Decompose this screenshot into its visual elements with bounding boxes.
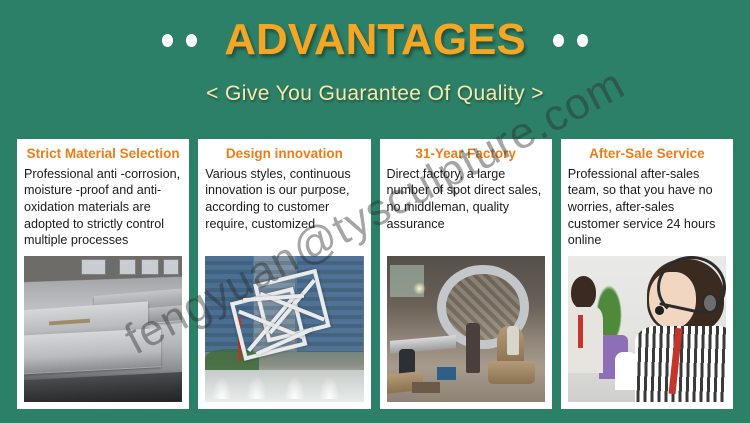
card-body-text: Professional after-sales team, so that y…	[561, 166, 733, 256]
water-spray	[246, 376, 267, 399]
steel-sheets-illustration	[24, 256, 182, 402]
card-photo-cube-sculpture	[205, 256, 363, 402]
left-dot-group	[162, 34, 197, 47]
window-shape	[141, 259, 158, 275]
page-subtitle: < Give You Guarantee Of Quality >	[0, 82, 750, 106]
card-body-text: Professional anti -corrosion, moisture -…	[17, 166, 189, 256]
decorative-dot-icon	[186, 34, 197, 47]
call-center-illustration	[568, 256, 726, 402]
advantage-card[interactable]: After-Sale Service Professional after-sa…	[561, 139, 733, 409]
cube-sculpture-illustration	[205, 256, 363, 402]
card-title: 31-Year Factory	[380, 139, 552, 166]
water-spray	[319, 376, 340, 399]
worker-figure	[507, 326, 520, 355]
card-photo-customer-service	[568, 256, 726, 402]
lanyard	[578, 315, 583, 348]
advantage-card[interactable]: Strict Material Selection Professional a…	[17, 139, 189, 409]
title-row: ADVANTAGES	[0, 12, 750, 68]
floor-shadow	[24, 371, 182, 402]
window-shape	[81, 259, 106, 275]
tool-box	[437, 367, 456, 380]
card-title: Strict Material Selection	[17, 139, 189, 166]
steel-slab	[24, 328, 160, 374]
card-title: Design innovation	[198, 139, 370, 166]
window-shape	[163, 259, 179, 275]
water-spray	[284, 376, 305, 399]
advantages-banner: ADVANTAGES < Give You Guarantee Of Quali…	[0, 0, 750, 423]
advantage-card[interactable]: Design innovation Various styles, contin…	[198, 139, 370, 409]
decorative-dot-icon	[553, 34, 564, 47]
worker-figure	[466, 323, 480, 373]
card-body-text: Direct factory, a large number of spot d…	[380, 166, 552, 256]
banner-header: ADVANTAGES < Give You Guarantee Of Quali…	[0, 0, 750, 130]
water-spray	[212, 376, 233, 399]
work-stool	[412, 382, 440, 394]
workshop-illustration	[387, 256, 545, 402]
window-shape	[119, 259, 136, 275]
advantage-card[interactable]: 31-Year Factory Direct factory, a large …	[380, 139, 552, 409]
agent-head	[571, 276, 596, 309]
card-title: After-Sale Service	[561, 139, 733, 166]
stone-block	[488, 361, 535, 384]
background-agent-figure	[568, 276, 603, 372]
card-photo-factory-workshop	[387, 256, 545, 402]
advantage-card-list: Strict Material Selection Professional a…	[17, 139, 733, 409]
right-dot-group	[553, 34, 588, 47]
agent-body	[568, 307, 603, 373]
card-body-text: Various styles, continuous innovation is…	[198, 166, 370, 256]
decorative-dot-icon	[162, 34, 173, 47]
decorative-dot-icon	[577, 34, 588, 47]
page-title: ADVANTAGES	[224, 18, 526, 62]
foreground-agent-figure	[631, 259, 726, 402]
headset-mic-icon	[655, 306, 664, 315]
card-photo-steel-sheets	[24, 256, 182, 402]
